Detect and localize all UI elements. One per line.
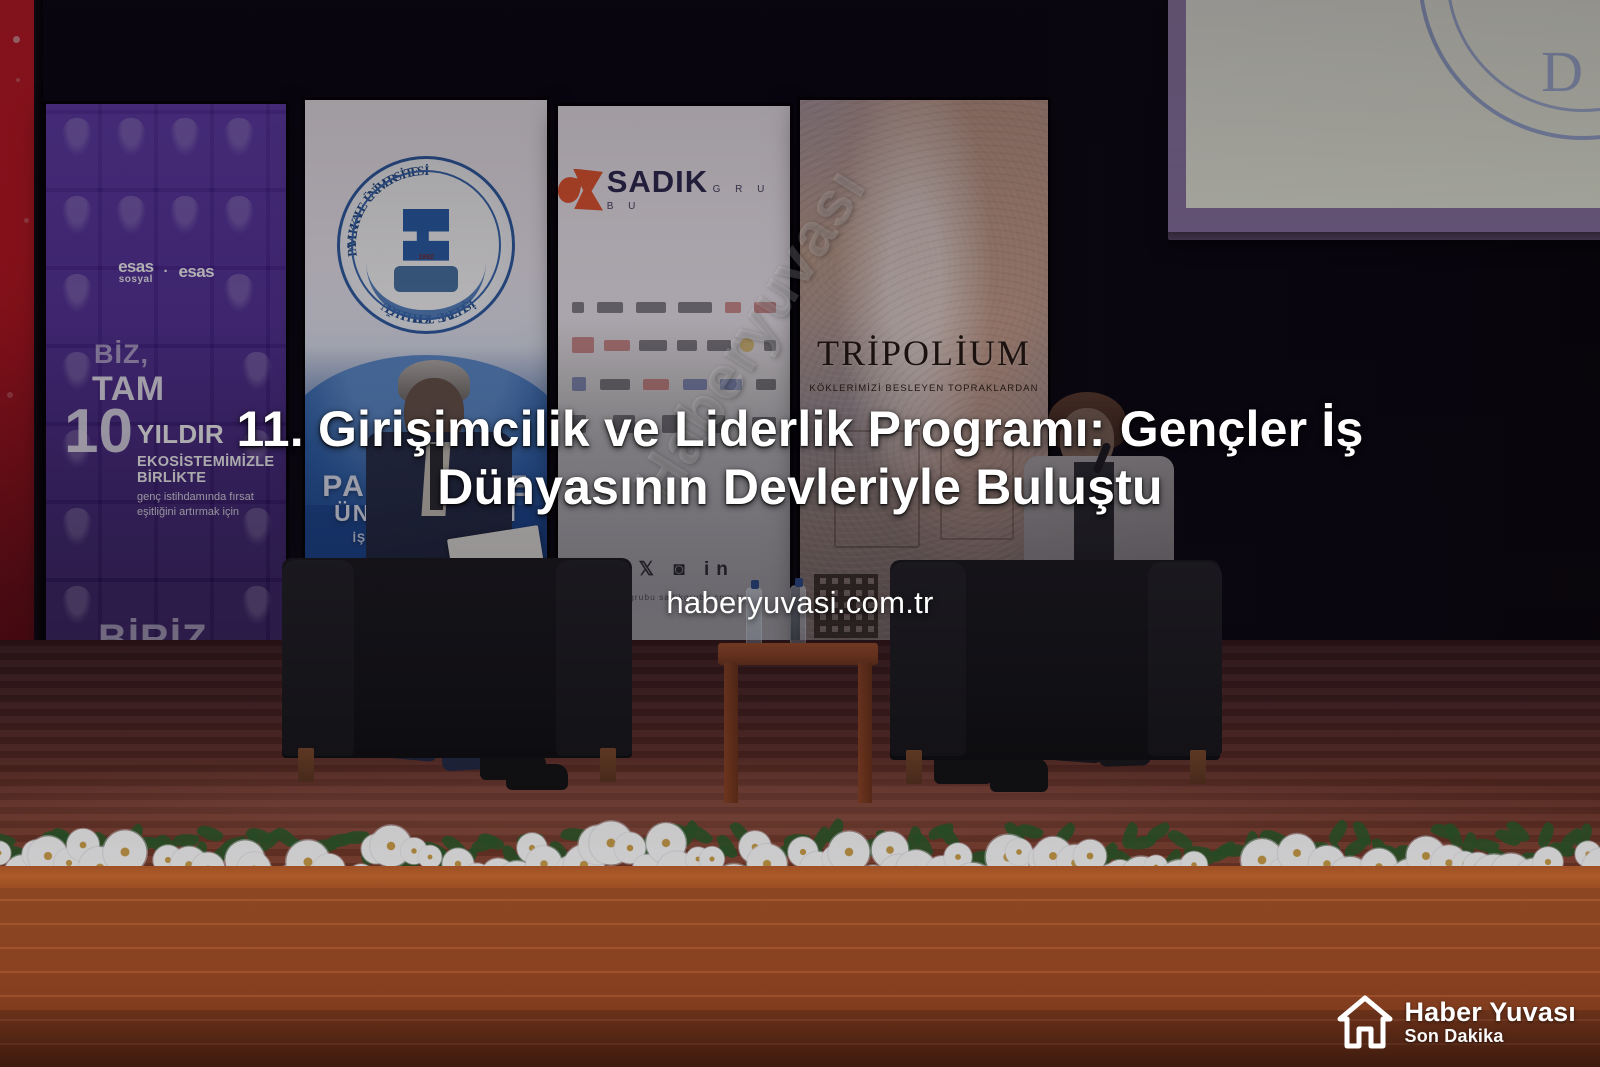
news-photo-card: D esas sosyal: [0, 0, 1600, 1067]
chair-leg: [298, 748, 314, 782]
brand-name: Haber Yuvası: [1404, 999, 1576, 1027]
table-top: [718, 643, 878, 665]
esas-sosyal-logo: esas sosyal: [118, 259, 153, 284]
leaf: [1325, 818, 1352, 846]
side-table: [718, 643, 878, 803]
projection-shadow: [1168, 232, 1600, 258]
esas-logo-row: esas sosyal · esas: [46, 259, 286, 284]
sadik-logo: SADIK G R U B U: [558, 166, 790, 213]
pamukkale-seal: PAMUKKALE ÜNİVERSİTESİ İŞLETME TOPLULUĞU…: [337, 156, 515, 334]
house-icon: [1337, 995, 1393, 1049]
sponsor-row: [572, 302, 776, 313]
esas-divider: ·: [164, 263, 169, 280]
table-leg: [858, 663, 872, 803]
projection-screen: D: [1186, 0, 1600, 208]
sadik-name: SADIK: [607, 164, 708, 199]
seal-year: 1992: [418, 254, 434, 261]
sadik-wordmark: SADIK G R U B U: [607, 166, 790, 213]
table-leg: [724, 663, 738, 803]
projected-letter: D: [1541, 38, 1586, 105]
chair-leg: [600, 748, 616, 782]
brand-text: Haber Yuvası Son Dakika: [1404, 999, 1576, 1045]
shoe: [506, 764, 568, 790]
red-drape-left: [0, 0, 34, 660]
drape-seam: [34, 0, 43, 665]
sponsor-row: [572, 337, 776, 353]
esas-logo: esas: [179, 264, 214, 280]
esas-line-biz: BİZ,: [94, 339, 276, 370]
seal-monogram: [403, 209, 449, 261]
site-url-watermark: haberyuvasi.com.tr: [0, 585, 1600, 621]
page-title: 11. Girişimcilik ve Liderlik Programı: G…: [0, 400, 1600, 516]
leaf: [686, 821, 714, 848]
banner-esas-sosyal: esas sosyal · esas BİZ, TAM 10 YILDIR EK…: [46, 104, 286, 656]
sponsor-row: [572, 377, 776, 391]
projection-screen-frame: D: [1168, 0, 1600, 240]
sadik-mark-icon: [558, 167, 599, 213]
chair-leg: [1190, 750, 1206, 784]
brand-tagline: Son Dakika: [1404, 1027, 1576, 1045]
boot: [990, 758, 1048, 792]
tripolium-name: TRİPOLİUM: [800, 332, 1048, 374]
seal-handshake: [394, 266, 458, 292]
seal-bottom-text: İŞLETME TOPLULUĞU: [340, 159, 512, 331]
chair-leg: [906, 750, 922, 784]
brand-logo[interactable]: Haber Yuvası Son Dakika: [1337, 995, 1576, 1049]
